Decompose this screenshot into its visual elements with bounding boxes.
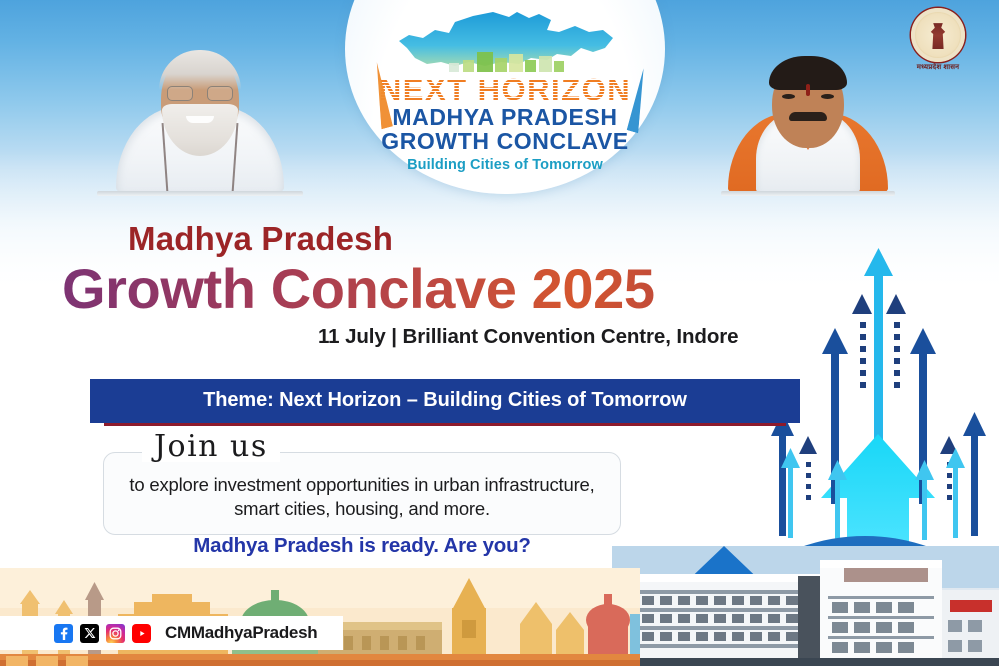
- join-us-card: Join us to explore investment opportunit…: [103, 452, 621, 535]
- page-title-event: Growth Conclave 2025: [62, 261, 860, 317]
- social-bar-left-cap: [0, 616, 44, 650]
- pm-podium: [97, 191, 303, 196]
- logo-line-next-horizon: NEXT HORIZON: [372, 74, 638, 105]
- conclave-logo: NEXT HORIZON MADHYA PRADESH GROWTH CONCL…: [372, 8, 638, 173]
- pm-glasses-icon: [167, 86, 233, 100]
- join-us-body: to explore investment opportunities in u…: [118, 473, 606, 520]
- event-poster: मध्यप्रदेश शासन: [0, 0, 999, 666]
- cm-eyes: [782, 94, 834, 100]
- headline-block: Madhya Pradesh Growth Conclave 2025 11 J…: [0, 222, 860, 349]
- cm-moustache: [789, 112, 827, 121]
- page-title-state: Madhya Pradesh: [128, 222, 860, 255]
- pm-hair: [159, 50, 241, 90]
- theme-banner: Theme: Next Horizon – Building Cities of…: [90, 379, 800, 426]
- pm-smile: [186, 116, 214, 123]
- instagram-icon[interactable]: [106, 624, 125, 643]
- government-emblem: मध्यप्रदेश शासन: [900, 8, 976, 71]
- government-of-madhya-pradesh-emblem-icon: [911, 8, 965, 62]
- logo-tagline: Building Cities of Tomorrow: [372, 157, 638, 173]
- theme-text: Theme: Next Horizon – Building Cities of…: [90, 379, 800, 423]
- event-details: 11 July | Brilliant Convention Centre, I…: [318, 325, 860, 349]
- chief-minister-portrait: [713, 0, 903, 196]
- youtube-icon[interactable]: [132, 624, 151, 643]
- theme-underline-accent: [104, 423, 786, 426]
- join-us-heading: Join us: [142, 432, 280, 462]
- madhya-pradesh-map-icon: [372, 8, 638, 78]
- prime-minister-portrait: [88, 0, 312, 196]
- call-to-action: Madhya Pradesh is ready. Are you?: [103, 534, 621, 558]
- emblem-caption: मध्यप्रदेश शासन: [900, 64, 976, 71]
- logo-line-madhya-pradesh: MADHYA PRADESH: [372, 105, 638, 129]
- logo-line-growth-conclave: GROWTH CONCLAVE: [372, 129, 638, 153]
- x-twitter-icon[interactable]: [80, 624, 99, 643]
- social-media-bar: CMMadhyaPradesh: [42, 616, 343, 650]
- cm-podium: [721, 191, 896, 196]
- facebook-icon[interactable]: [54, 624, 73, 643]
- social-handle[interactable]: CMMadhyaPradesh: [165, 623, 317, 643]
- convention-centre-building-photo: [612, 546, 999, 666]
